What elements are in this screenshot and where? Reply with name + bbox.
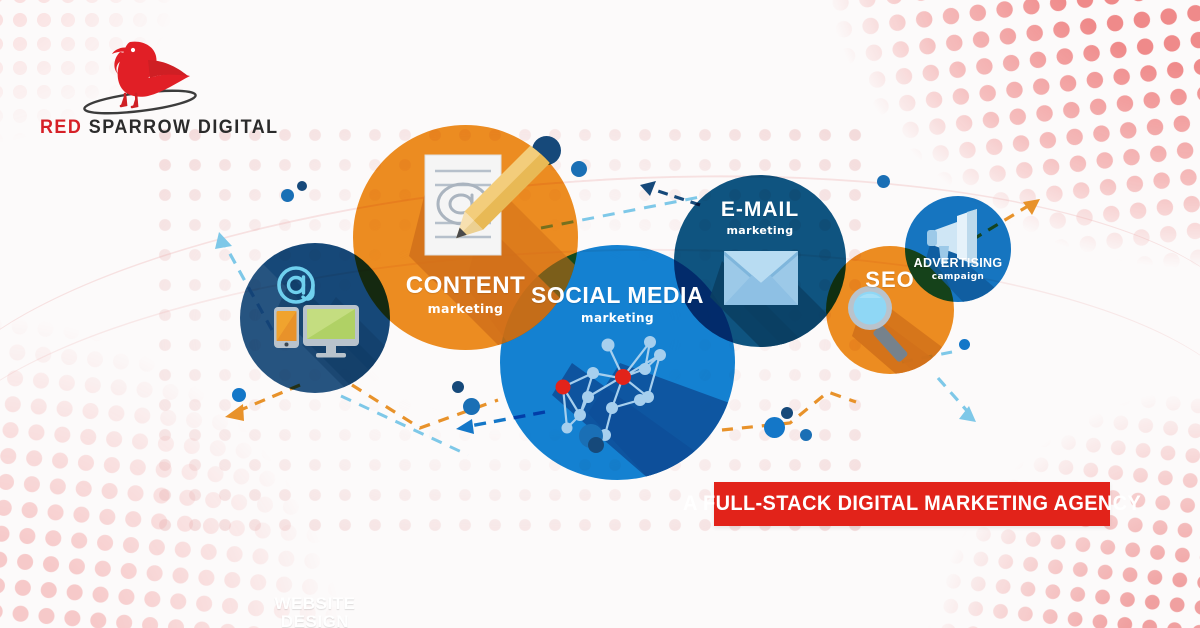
website-design-text-block: WEBSITE DESIGN <box>240 595 390 628</box>
arrow-light-blue-downright <box>938 378 976 422</box>
decor-dot <box>959 339 970 350</box>
service-title-social-media: SOCIAL MEDIA <box>500 283 735 307</box>
decor-dot <box>781 407 793 419</box>
brand-logo[interactable]: RED SPARROW DIGITAL <box>40 32 270 142</box>
advertising-text-block: ADVERTISING campaign <box>905 257 1011 282</box>
service-title-line2-website-design: DESIGN <box>240 613 390 628</box>
service-title-email-marketing: E-MAIL <box>674 199 846 221</box>
service-subtitle-advertising: campaign <box>905 272 1011 282</box>
decor-dot <box>571 161 587 177</box>
envelope-icon <box>724 251 798 305</box>
service-title-line1-website-design: WEBSITE <box>240 595 390 613</box>
brand-name-first: RED <box>40 116 82 138</box>
decor-dot <box>297 181 307 191</box>
smartphone-icon <box>274 307 299 348</box>
brand-name-rest: SPARROW DIGITAL <box>89 116 279 138</box>
dashed-line-light-blue-lower-left <box>341 396 468 455</box>
tagline-text: A FULL-STACK DIGITAL MARKETING AGENCY <box>683 492 1141 516</box>
tagline-banner[interactable]: A FULL-STACK DIGITAL MARKETING AGENCY <box>714 482 1110 526</box>
service-subtitle-social-media: marketing <box>500 311 735 325</box>
decor-dot <box>281 189 294 202</box>
red-sparrow-bird-logo-icon <box>68 30 218 116</box>
decor-dot <box>588 437 604 453</box>
decor-dot <box>877 175 890 188</box>
halftone-pattern-bottom-right <box>883 314 1200 628</box>
decor-dot <box>800 429 812 441</box>
decor-dot <box>452 381 464 393</box>
service-title-advertising: ADVERTISING <box>905 257 1011 270</box>
email-text-block: E-MAIL marketing <box>674 199 846 237</box>
social-media-text-block: SOCIAL MEDIA marketing <box>500 283 735 325</box>
decor-dot <box>764 417 785 438</box>
decor-dot <box>463 398 480 415</box>
brand-wordmark: RED SPARROW DIGITAL <box>40 116 252 139</box>
service-subtitle-email-marketing: marketing <box>674 224 846 237</box>
marketing-banner-graphic: RED SPARROW DIGITAL <box>0 0 1200 628</box>
